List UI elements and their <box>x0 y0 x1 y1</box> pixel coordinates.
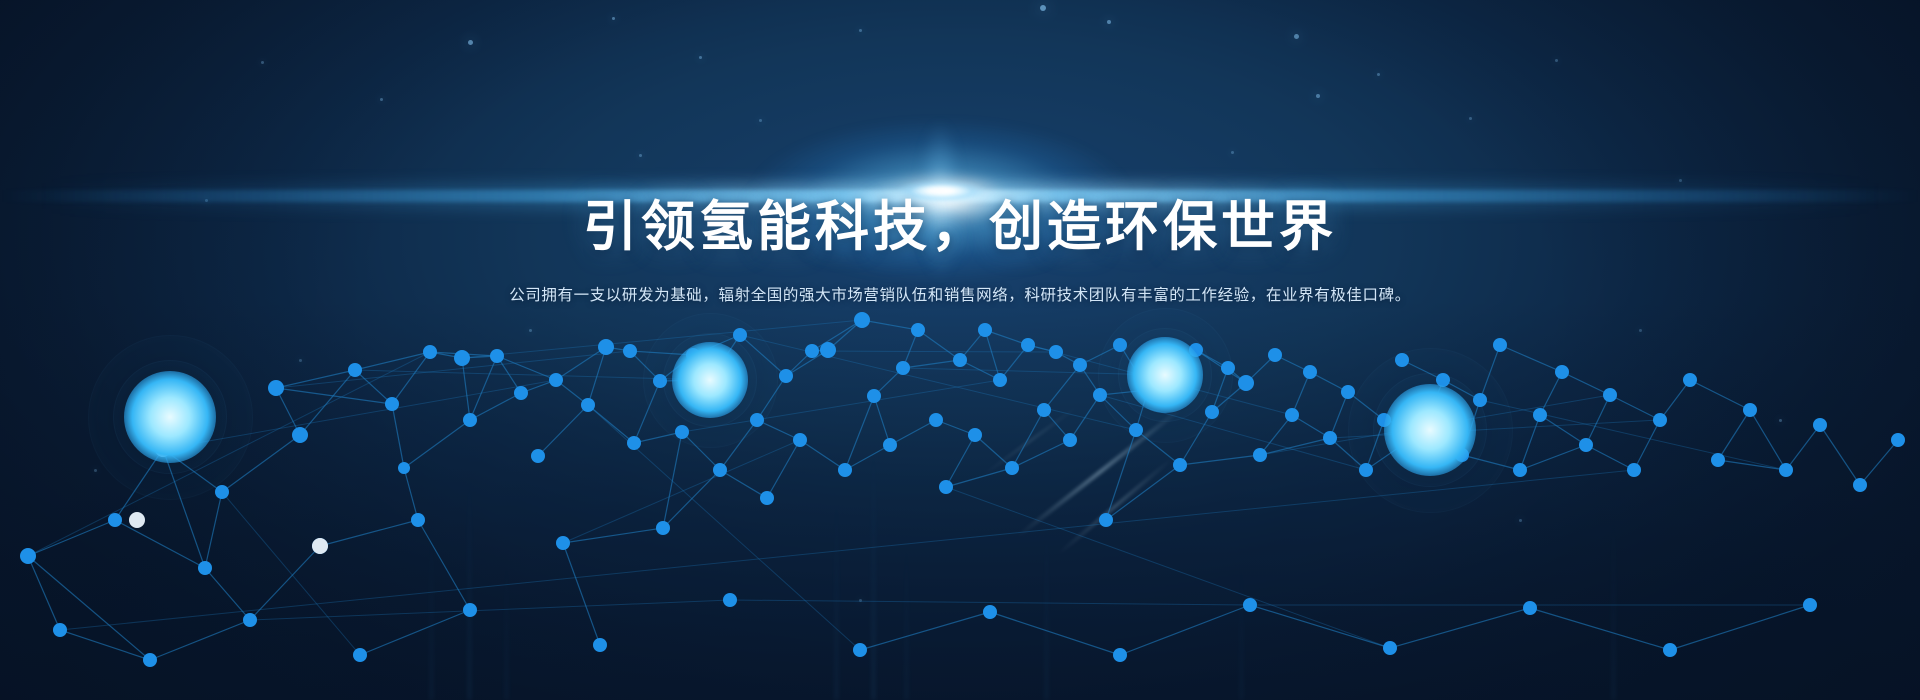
mesh-node <box>1063 433 1077 447</box>
mesh-node <box>1021 338 1035 352</box>
mesh-node <box>911 323 925 337</box>
mesh-node <box>108 513 122 527</box>
mesh-node <box>1073 358 1087 372</box>
mesh-node <box>1285 408 1299 422</box>
mesh-node <box>1711 453 1725 467</box>
mesh-node <box>1683 373 1697 387</box>
mesh-node <box>143 653 157 667</box>
mesh-node <box>939 480 953 494</box>
mesh-node <box>549 373 563 387</box>
page-title: 引领氢能科技，创造环保世界 <box>0 196 1920 260</box>
mesh-node <box>1853 478 1867 492</box>
mesh-node <box>993 373 1007 387</box>
mesh-node <box>1813 418 1827 432</box>
mesh-node <box>598 339 614 355</box>
mesh-node-highlight <box>129 512 145 528</box>
mesh-node <box>1395 353 1409 367</box>
page-subtitle: 公司拥有一支以研发为基础，辐射全国的强大市场营销队伍和销售网络，科研技术团队有丰… <box>0 284 1920 309</box>
mesh-node <box>978 323 992 337</box>
hero-banner: 引领氢能科技，创造环保世界 公司拥有一支以研发为基础，辐射全国的强大市场营销队伍… <box>0 0 1920 700</box>
mesh-node <box>1323 431 1337 445</box>
mesh-node <box>292 427 308 443</box>
mesh-node <box>853 643 867 657</box>
mesh-node <box>1303 365 1317 379</box>
mesh-node <box>353 648 367 662</box>
mesh-node <box>1221 361 1235 375</box>
mesh-node <box>805 344 819 358</box>
mesh-node <box>854 312 870 328</box>
mesh-node <box>1341 385 1355 399</box>
mesh-node <box>398 462 410 474</box>
mesh-node <box>656 521 670 535</box>
mesh-node <box>793 433 807 447</box>
mesh-node <box>1268 348 1282 362</box>
mesh-node <box>627 436 641 450</box>
mesh-node <box>723 593 737 607</box>
mesh-node <box>1157 367 1173 383</box>
mesh-node <box>750 413 764 427</box>
mesh-node <box>929 413 943 427</box>
mesh-node <box>268 380 284 396</box>
mesh-node <box>1455 448 1469 462</box>
mesh-node <box>702 372 718 388</box>
mesh-node <box>1803 598 1817 612</box>
mesh-node <box>198 561 212 575</box>
mesh-node <box>1523 601 1537 615</box>
mesh-node <box>1093 388 1107 402</box>
mesh-node <box>581 398 595 412</box>
mesh-node <box>1205 405 1219 419</box>
mesh-node <box>686 348 700 362</box>
mesh-node <box>53 623 67 637</box>
mesh-node <box>1493 338 1507 352</box>
mesh-node <box>1603 388 1617 402</box>
mesh-node-highlight <box>312 538 328 554</box>
mesh-node <box>243 613 257 627</box>
mesh-node <box>760 491 774 505</box>
mesh-node <box>531 449 545 463</box>
mesh-node <box>463 413 477 427</box>
mesh-node <box>1436 373 1450 387</box>
mesh-node <box>867 389 881 403</box>
mesh-node <box>1891 433 1905 447</box>
mesh-node <box>1383 641 1397 655</box>
mesh-node <box>490 349 504 363</box>
mesh-node <box>463 603 477 617</box>
mesh-node <box>556 536 570 550</box>
mesh-node <box>423 345 437 359</box>
mesh-node <box>1377 413 1391 427</box>
mesh-node <box>1037 403 1051 417</box>
mesh-node <box>883 438 897 452</box>
mesh-node <box>1243 598 1257 612</box>
mesh-node <box>1743 403 1757 417</box>
mesh-node <box>454 350 470 366</box>
mesh-node <box>623 344 637 358</box>
mesh-node <box>348 363 362 377</box>
mesh-node <box>1579 438 1593 452</box>
mesh-node <box>779 369 793 383</box>
mesh-node <box>1141 383 1155 397</box>
mesh-node <box>411 513 425 527</box>
mesh-node <box>1555 365 1569 379</box>
mesh-node <box>20 548 36 564</box>
mesh-node <box>838 463 852 477</box>
mesh-node <box>1533 408 1547 422</box>
mesh-node <box>1473 393 1487 407</box>
mesh-node <box>1099 513 1113 527</box>
network-mesh-graphic <box>0 0 1920 700</box>
mesh-node <box>983 605 997 619</box>
mesh-node <box>1113 338 1127 352</box>
mesh-links <box>28 320 1898 660</box>
mesh-node <box>1253 448 1267 462</box>
mesh-node <box>653 374 667 388</box>
mesh-node <box>1416 422 1432 438</box>
mesh-node <box>1653 413 1667 427</box>
mesh-node <box>953 353 967 367</box>
mesh-node <box>215 485 229 499</box>
mesh-node <box>1129 423 1143 437</box>
mesh-node <box>1238 375 1254 391</box>
mesh-node <box>593 638 607 652</box>
mesh-node <box>1513 463 1527 477</box>
mesh-node <box>733 328 747 342</box>
mesh-node <box>514 386 528 400</box>
mesh-node <box>713 463 727 477</box>
mesh-node <box>1113 648 1127 662</box>
mesh-node <box>1173 458 1187 472</box>
mesh-node <box>1779 463 1793 477</box>
mesh-nodes <box>20 312 1905 667</box>
mesh-node <box>1189 343 1203 357</box>
mesh-node <box>1663 643 1677 657</box>
mesh-node <box>385 397 399 411</box>
mesh-node <box>1359 463 1373 477</box>
mesh-node-highlight <box>155 441 171 457</box>
mesh-node <box>675 425 689 439</box>
mesh-node <box>968 428 982 442</box>
mesh-node <box>1049 345 1063 359</box>
mesh-node <box>1627 463 1641 477</box>
hero-copy: 引领氢能科技，创造环保世界 公司拥有一支以研发为基础，辐射全国的强大市场营销队伍… <box>0 196 1920 309</box>
mesh-node <box>1005 461 1019 475</box>
mesh-node <box>820 342 836 358</box>
mesh-node <box>896 361 910 375</box>
